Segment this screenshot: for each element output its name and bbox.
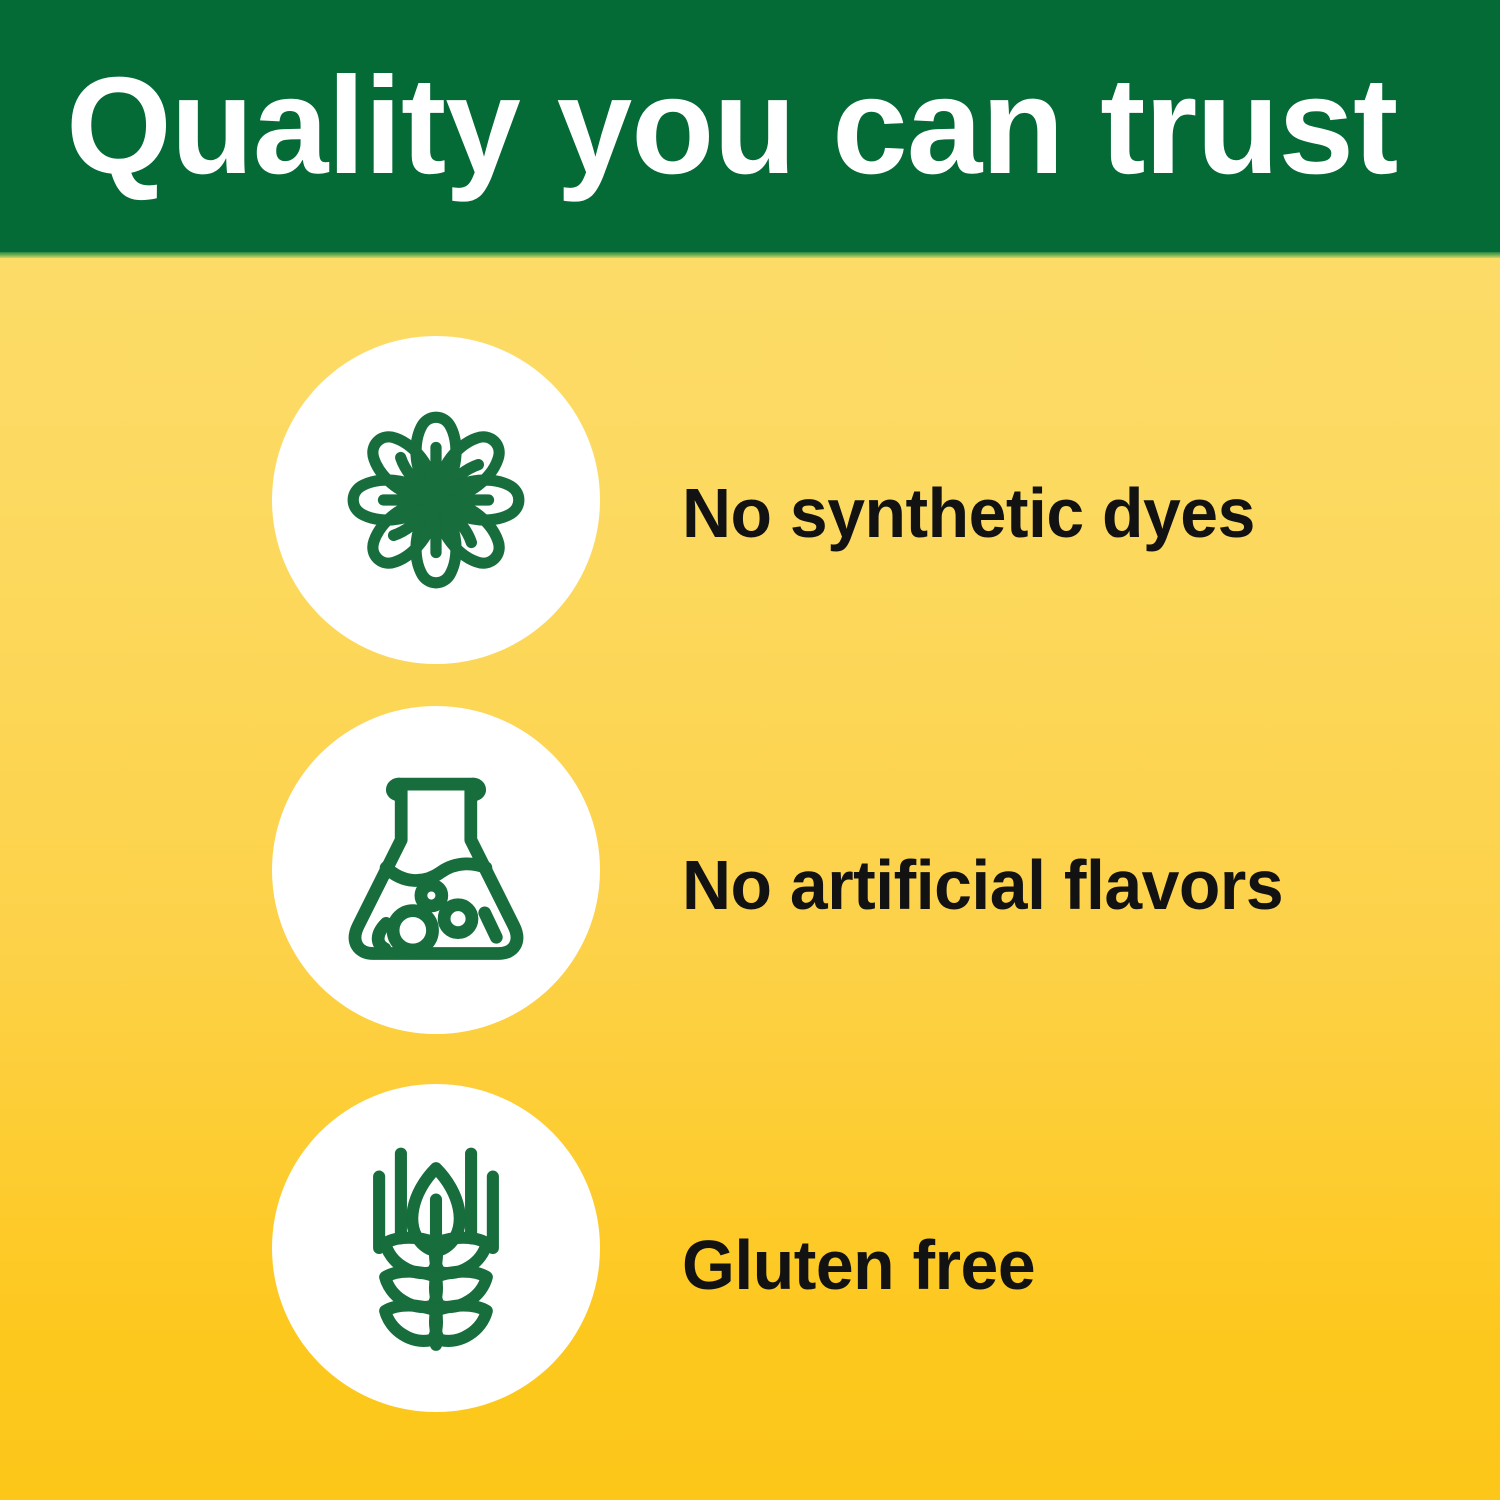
flower-petals-icon xyxy=(311,375,561,625)
feature-list: No synthetic dyes xyxy=(0,258,1500,1500)
quality-claims-graphic: Quality you can trust xyxy=(0,0,1500,1500)
icon-badge-no-synthetic-dyes xyxy=(272,336,600,664)
feature-label-gluten-free: Gluten free xyxy=(682,1230,1035,1300)
feature-row: No artificial flavors xyxy=(0,705,1500,1035)
feature-label-no-artificial-flavors: No artificial flavors xyxy=(682,850,1283,920)
feature-row: No synthetic dyes xyxy=(0,335,1500,665)
feature-label-no-synthetic-dyes: No synthetic dyes xyxy=(682,478,1255,548)
icon-badge-gluten-free xyxy=(272,1084,600,1412)
icon-badge-no-artificial-flavors xyxy=(272,706,600,1034)
erlenmeyer-flask-icon xyxy=(320,754,552,986)
feature-row: Gluten free xyxy=(0,1083,1500,1413)
wheat-stalk-icon xyxy=(315,1127,557,1369)
page-title: Quality you can trust xyxy=(66,57,1397,195)
header-banner: Quality you can trust xyxy=(0,0,1500,258)
